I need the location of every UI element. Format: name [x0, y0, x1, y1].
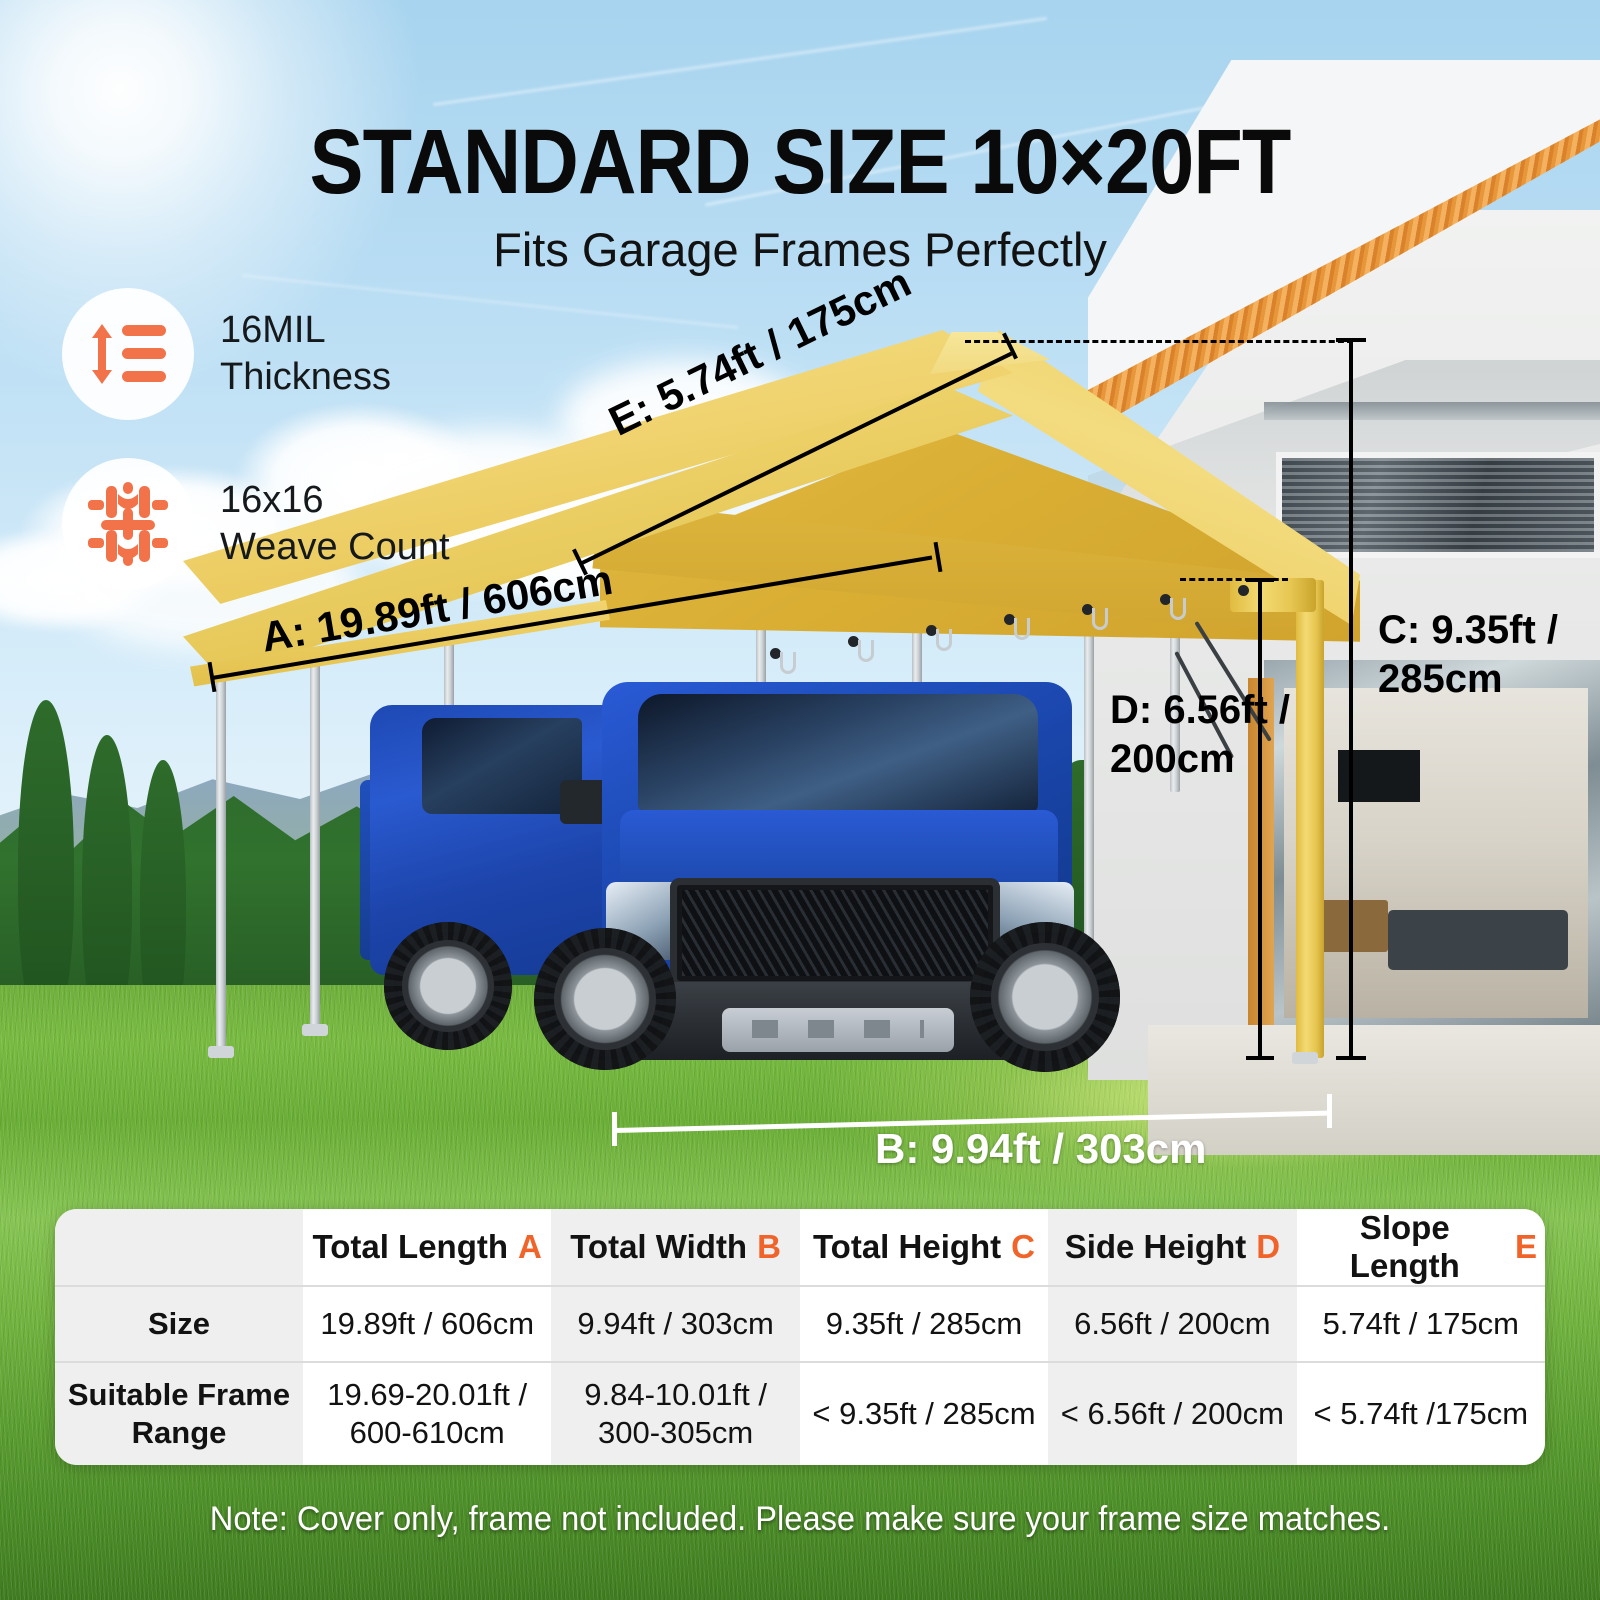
truck-hood: [620, 810, 1058, 886]
footer-note: Note: Cover only, frame not included. Pl…: [32, 1500, 1568, 1539]
canopy-foot: [302, 1024, 328, 1036]
canopy-corner-post: [1296, 580, 1324, 1058]
table-cell: 19.89ft / 606cm: [303, 1285, 551, 1361]
dimension-label-b: B: 9.94ft / 303cm: [875, 1125, 1207, 1173]
badge-line2: Weave Count: [220, 524, 450, 572]
table-cell: < 9.35ft / 285cm: [800, 1361, 1048, 1465]
spec-table: Total Length A Total Width B Total Heigh…: [55, 1209, 1545, 1465]
table-header-label: Total Length: [313, 1228, 509, 1266]
truck-windshield: [638, 694, 1038, 814]
feature-badge-weave: 16x16 Weave Count: [62, 458, 450, 590]
dimension-cap: [1246, 578, 1274, 582]
table-cell: 9.84-10.01ft / 300-305cm: [551, 1361, 799, 1465]
badge-line2: Thickness: [220, 354, 391, 402]
table-cell: 9.94ft / 303cm: [551, 1285, 799, 1361]
infographic-canvas: STANDARD SIZE 10×20FT Fits Garage Frames…: [0, 0, 1600, 1600]
badge-line1: 16x16: [220, 477, 450, 525]
truck-wheel: [970, 922, 1120, 1072]
dimension-line-c: [1349, 340, 1353, 1060]
feature-badge-thickness: 16MIL Thickness: [62, 288, 391, 420]
table-cell: < 6.56ft / 200cm: [1048, 1361, 1296, 1465]
dimension-label-c-line2: 285cm: [1378, 655, 1558, 704]
dimension-dash-c-top: [965, 340, 1353, 343]
badge-line1: 16MIL: [220, 307, 391, 355]
thickness-icon: [82, 308, 174, 400]
table-header-side-height: Side Height D: [1048, 1209, 1296, 1285]
dimension-cap: [612, 1112, 617, 1146]
table-header-slope-length: Slope Length E: [1297, 1209, 1545, 1285]
table-header-letter: C: [1011, 1228, 1035, 1266]
pickup-truck: [370, 660, 1160, 1080]
table-header-total-height: Total Height C: [800, 1209, 1048, 1285]
badge-circle: [62, 458, 194, 590]
truck-side-window: [422, 718, 582, 814]
badge-text: 16x16 Weave Count: [220, 477, 450, 572]
canopy-leg: [216, 672, 226, 1052]
tire-tread: [534, 928, 676, 1070]
table-row-label: Suitable Frame Range: [55, 1361, 303, 1465]
weave-icon: [82, 478, 174, 570]
badge-circle: [62, 288, 194, 420]
dimension-label-d-line1: D: 6.56ft /: [1110, 686, 1290, 735]
canopy-hook: [936, 629, 952, 651]
page-title: STANDARD SIZE 10×20FT: [96, 110, 1504, 215]
table-cell: 9.35ft / 285cm: [800, 1285, 1048, 1361]
dimension-cap: [1246, 1056, 1274, 1060]
tire-tread: [384, 922, 512, 1050]
canopy-grommet: [1238, 585, 1249, 596]
table-header-letter: B: [757, 1228, 781, 1266]
dimension-label-d-line2: 200cm: [1110, 735, 1290, 784]
table-header-label: Total Width: [570, 1228, 747, 1266]
truck-wheel: [534, 928, 676, 1070]
canopy-hook: [1092, 608, 1108, 630]
dimension-line-d: [1258, 580, 1262, 1060]
truck-wheel: [384, 922, 512, 1050]
dimension-label-d: D: 6.56ft / 200cm: [1110, 686, 1290, 784]
table-cell: 6.56ft / 200cm: [1048, 1285, 1296, 1361]
canopy-hook: [858, 640, 874, 662]
table-header-blank: [55, 1209, 303, 1285]
table-cell: 19.69-20.01ft / 600-610cm: [303, 1361, 551, 1465]
table-header-total-width: Total Width B: [551, 1209, 799, 1285]
canopy-hook: [1014, 618, 1030, 640]
table-header-letter: A: [518, 1228, 542, 1266]
page-subtitle: Fits Garage Frames Perfectly: [0, 222, 1600, 277]
tire-tread: [970, 922, 1120, 1072]
badge-text: 16MIL Thickness: [220, 307, 391, 402]
table-row-label: Size: [55, 1285, 303, 1361]
canopy-foot: [1292, 1052, 1318, 1064]
table-header-letter: D: [1256, 1228, 1280, 1266]
dimension-cap: [1327, 1094, 1332, 1128]
table-header-label: Side Height: [1065, 1228, 1247, 1266]
table-cell: < 5.74ft /175cm: [1297, 1361, 1545, 1465]
table-header-total-length: Total Length A: [303, 1209, 551, 1285]
dimension-cap: [1336, 1056, 1366, 1060]
dimension-label-c: C: 9.35ft / 285cm: [1378, 606, 1558, 704]
table-header-letter: E: [1515, 1228, 1537, 1266]
canopy-foot: [208, 1046, 234, 1058]
truck-grille: [670, 878, 1000, 988]
table-header-label: Total Height: [813, 1228, 1001, 1266]
table-cell: 5.74ft / 175cm: [1297, 1285, 1545, 1361]
truck-skid-plate: [722, 1008, 954, 1052]
dimension-label-c-line1: C: 9.35ft /: [1378, 606, 1558, 655]
canopy-hook: [1170, 598, 1186, 620]
canopy-leg: [310, 648, 320, 1030]
table-header-label: Slope Length: [1305, 1209, 1505, 1285]
dimension-cap: [1336, 338, 1366, 342]
